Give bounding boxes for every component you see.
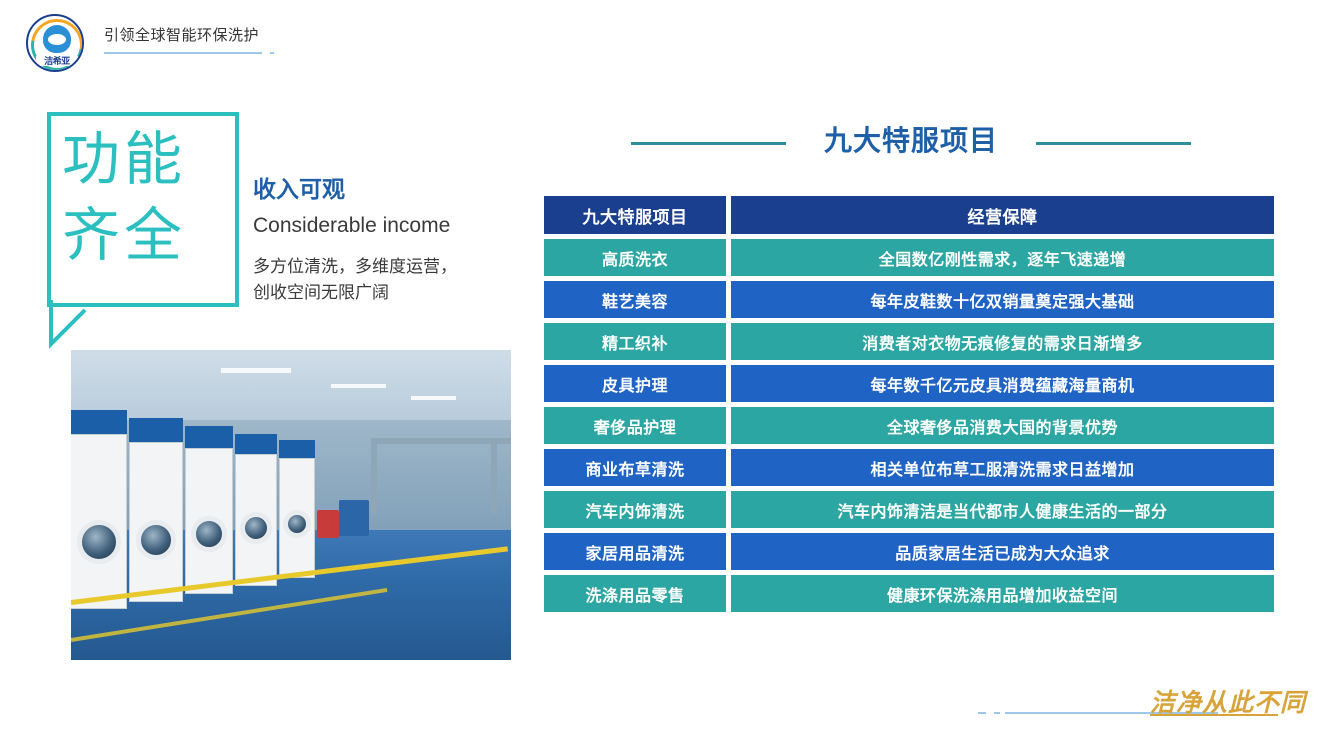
photo-rack-post — [371, 444, 377, 514]
ceiling-lamp — [331, 384, 386, 388]
header-rule-dash — [252, 52, 274, 54]
income-title-cn: 收入可观 — [253, 170, 528, 204]
photo-rack-post — [491, 444, 497, 514]
table-header-row: 九大特服项目 经营保障 — [544, 196, 1274, 234]
ceiling-lamp — [411, 396, 456, 400]
service-desc: 消费者对衣物无痕修复的需求日渐增多 — [731, 323, 1274, 360]
table-row: 家居用品清洗 品质家居生活已成为大众追求 — [544, 533, 1274, 570]
laundry-store-photo — [71, 350, 511, 660]
income-block: 收入可观 Considerable income 多方位清洗，多维度运营， 创收… — [253, 170, 528, 306]
service-desc: 每年皮鞋数十亿双销量奠定强大基础 — [731, 281, 1274, 318]
section-title-block: 九大特服项目 — [631, 124, 1191, 164]
logo-text: 洁希亚 — [36, 56, 78, 66]
header-rule — [104, 52, 264, 54]
service-name: 汽车内饰清洗 — [544, 491, 726, 528]
machine-top-panel — [279, 440, 315, 458]
title-rule-left — [631, 142, 786, 145]
machine-top-panel — [71, 410, 127, 434]
title-rule-right — [1036, 142, 1191, 145]
speech-bubble-tail — [45, 300, 115, 352]
service-desc: 全球奢侈品消费大国的背景优势 — [731, 407, 1274, 444]
table-header-desc: 经营保障 — [731, 196, 1274, 234]
machine-top-panel — [185, 426, 233, 448]
feature-headline: 功能 齐全 — [62, 122, 232, 274]
service-name: 高质洗衣 — [544, 239, 726, 276]
table-row: 洗涤用品零售 健康环保洗涤用品增加收益空间 — [544, 575, 1274, 612]
laundry-cart — [339, 500, 369, 536]
machine-door — [283, 510, 311, 538]
header-slogan: 引领全球智能环保洗护 — [104, 24, 259, 45]
machine-top-panel — [129, 418, 183, 442]
table-row: 鞋艺美容 每年皮鞋数十亿双销量奠定强大基础 — [544, 281, 1274, 318]
machine-door — [77, 520, 121, 564]
footer-rule-gap — [1000, 712, 1005, 714]
service-name: 家居用品清洗 — [544, 533, 726, 570]
service-name: 皮具护理 — [544, 365, 726, 402]
service-desc: 相关单位布草工服清洗需求日益增加 — [731, 449, 1274, 486]
machine-door — [240, 512, 272, 544]
service-name: 奢侈品护理 — [544, 407, 726, 444]
header-rule-gap — [262, 52, 270, 54]
table-row: 商业布草清洗 相关单位布草工服清洗需求日益增加 — [544, 449, 1274, 486]
service-desc: 品质家居生活已成为大众追求 — [731, 533, 1274, 570]
footer-rule-gap — [986, 712, 994, 714]
service-name: 洗涤用品零售 — [544, 575, 726, 612]
table-row: 高质洗衣 全国数亿刚性需求，逐年飞速递增 — [544, 239, 1274, 276]
machine-top-panel — [235, 434, 277, 454]
feature-headline-line1: 功能 — [62, 122, 232, 198]
service-desc: 健康环保洗涤用品增加收益空间 — [731, 575, 1274, 612]
machine-door — [136, 520, 176, 560]
income-desc-line2: 创收空间无限广阔 — [253, 280, 528, 306]
table-row: 精工织补 消费者对衣物无痕修复的需求日渐增多 — [544, 323, 1274, 360]
feature-headline-line2: 齐全 — [62, 198, 232, 274]
machine-door — [191, 516, 227, 552]
service-name: 鞋艺美容 — [544, 281, 726, 318]
service-desc: 全国数亿刚性需求，逐年飞速递增 — [731, 239, 1274, 276]
table-row: 皮具护理 每年数千亿元皮具消费蕴藏海量商机 — [544, 365, 1274, 402]
ceiling-lamp — [221, 368, 291, 373]
table-row: 汽车内饰清洗 汽车内饰清洁是当代都市人健康生活的一部分 — [544, 491, 1274, 528]
services-table: 九大特服项目 经营保障 高质洗衣 全国数亿刚性需求，逐年飞速递增 鞋艺美容 每年… — [544, 196, 1274, 617]
income-title-en: Considerable income — [253, 214, 528, 238]
service-name: 精工织补 — [544, 323, 726, 360]
laundry-cart — [317, 510, 339, 538]
table-row: 奢侈品护理 全球奢侈品消费大国的背景优势 — [544, 407, 1274, 444]
footer-slogan-underline — [1150, 714, 1278, 716]
page-header: 洁希亚 引领全球智能环保洗护 — [0, 0, 1321, 92]
income-desc-line1: 多方位清洗，多维度运营， — [253, 254, 528, 280]
service-name: 商业布草清洗 — [544, 449, 726, 486]
table-header-name: 九大特服项目 — [544, 196, 726, 234]
logo-ring: 洁希亚 — [26, 14, 84, 72]
photo-rack — [371, 438, 511, 444]
brand-logo: 洁希亚 — [26, 14, 88, 76]
mascot-icon — [43, 25, 71, 53]
service-desc: 汽车内饰清洁是当代都市人健康生活的一部分 — [731, 491, 1274, 528]
section-title: 九大特服项目 — [801, 124, 1021, 158]
service-desc: 每年数千亿元皮具消费蕴藏海量商机 — [731, 365, 1274, 402]
